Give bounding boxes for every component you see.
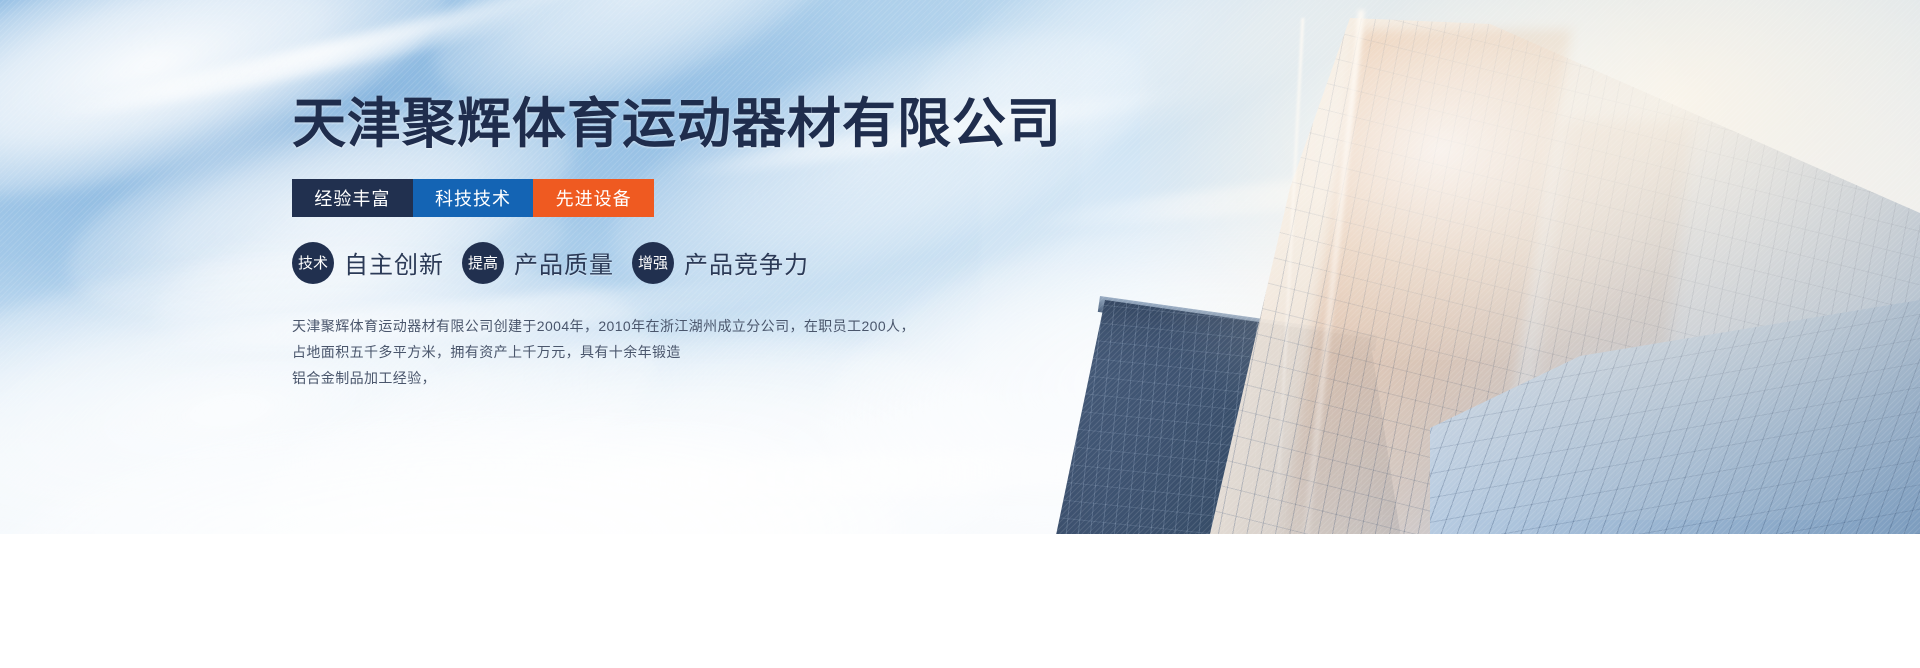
page-footer-strip — [0, 534, 1920, 668]
description-line: 天津聚辉体育运动器材有限公司创建于2004年，2010年在浙江湖州成立分公司，在… — [292, 313, 1072, 339]
feature-badge-icon: 技术 — [292, 242, 334, 284]
tag-strip: 经验丰富 科技技术 先进设备 — [292, 179, 654, 217]
description-line: 占地面积五千多平方米，拥有资产上千万元，具有十余年锻造 — [292, 339, 1072, 365]
company-description: 天津聚辉体育运动器材有限公司创建于2004年，2010年在浙江湖州成立分公司，在… — [292, 313, 1072, 391]
tag-experience[interactable]: 经验丰富 — [292, 179, 413, 217]
hero-banner: 天津聚辉体育运动器材有限公司 经验丰富 科技技术 先进设备 技术 自主创新 提高… — [0, 0, 1920, 534]
feature-item-competitiveness: 增强 产品竞争力 — [632, 242, 809, 284]
feature-list: 技术 自主创新 提高 产品质量 增强 产品竞争力 — [292, 241, 1072, 285]
tag-equipment[interactable]: 先进设备 — [533, 179, 654, 217]
description-line: 铝合金制品加工经验， — [292, 365, 1072, 391]
company-headline: 天津聚辉体育运动器材有限公司 — [292, 96, 1072, 153]
feature-label: 自主创新 — [344, 245, 444, 280]
feature-item-innovation: 技术 自主创新 — [292, 242, 444, 284]
feature-badge-icon: 增强 — [632, 242, 674, 284]
feature-badge-icon: 提高 — [462, 242, 504, 284]
feature-label: 产品竞争力 — [684, 245, 809, 280]
feature-item-quality: 提高 产品质量 — [462, 242, 614, 284]
feature-label: 产品质量 — [514, 245, 614, 280]
tag-technology[interactable]: 科技技术 — [413, 179, 534, 217]
banner-content: 天津聚辉体育运动器材有限公司 经验丰富 科技技术 先进设备 技术 自主创新 提高… — [292, 96, 1072, 391]
